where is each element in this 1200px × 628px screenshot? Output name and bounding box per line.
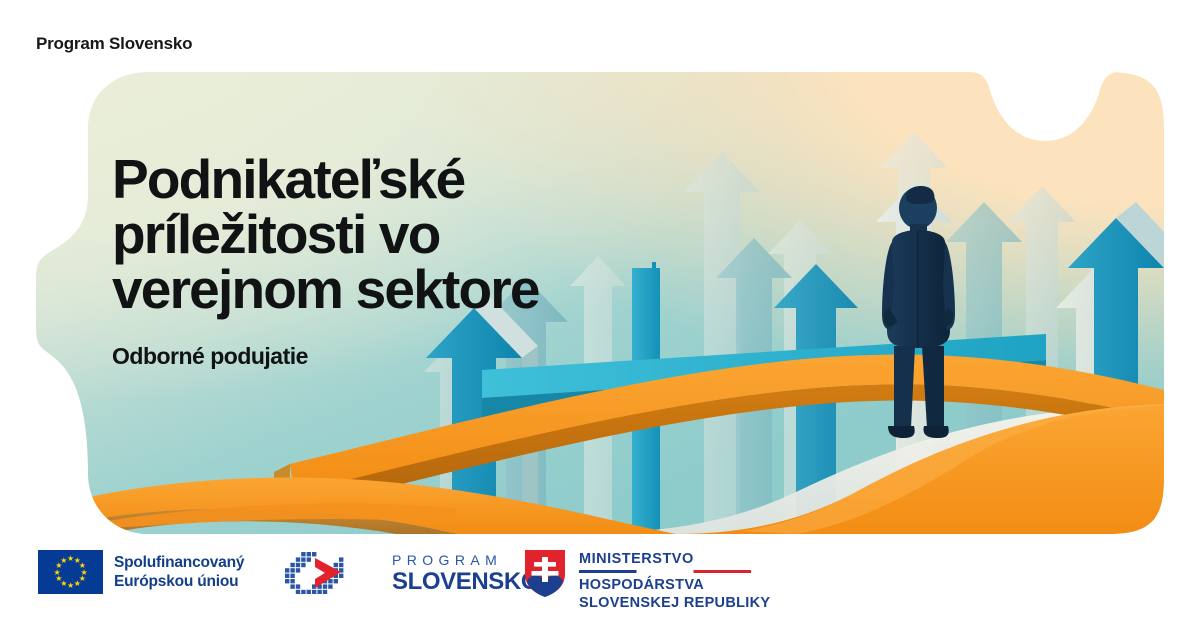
title-line-1: Podnikateľské (112, 152, 672, 207)
eu-flag-icon: ★★★★★★★★★★★★ (38, 550, 103, 594)
eu-text-line-2: Európskou úniou (114, 572, 244, 591)
eu-star-icon: ★ (60, 557, 67, 564)
page-kicker: Program Slovensko (36, 34, 192, 54)
ministry-line-2: HOSPODÁRSTVA (579, 576, 770, 594)
ministry-line-3: SLOVENSKEJ REPUBLIKY (579, 594, 770, 612)
page-subtitle: Odborné podujatie (112, 343, 672, 370)
slovak-coat-of-arms-icon (523, 548, 567, 598)
eu-star-icon: ★ (67, 582, 74, 589)
ministry-line-1: MINISTERSTVO (579, 551, 770, 567)
ministry-wordmark: MINISTERSTVO HOSPODÁRSTVA SLOVENSKEJ REP… (579, 548, 770, 612)
ps-line-1: PROGRAM (392, 553, 539, 567)
tricolor-divider (579, 570, 751, 573)
poster-canvas: Program Slovensko (0, 0, 1200, 628)
logo-program-slovensko: PROGRAM SLOVENSKO (285, 552, 539, 594)
hero-card: Podnikateľské príležitosti vo verejnom s… (36, 72, 1164, 534)
hero-copy: Podnikateľské príležitosti vo verejnom s… (112, 152, 672, 370)
eu-text-line-1: Spolufinancovaný (114, 553, 244, 572)
title-line-3: verejnom sektore (112, 262, 672, 317)
title-line-2: príležitosti vo (112, 207, 672, 262)
page-title: Podnikateľské príležitosti vo verejnom s… (112, 152, 672, 317)
footer-logo-bar: ★★★★★★★★★★★★ Spolufinancovaný Európskou … (0, 540, 1200, 618)
ps-line-2: SLOVENSKO (392, 570, 539, 594)
logo-ministry: MINISTERSTVO HOSPODÁRSTVA SLOVENSKEJ REP… (523, 548, 770, 612)
program-slovensko-mark-icon (285, 552, 380, 594)
eu-logo-text: Spolufinancovaný Európskou úniou (114, 553, 244, 592)
eu-star-icon: ★ (74, 580, 81, 587)
logo-eu: ★★★★★★★★★★★★ Spolufinancovaný Európskou … (38, 550, 244, 594)
program-slovensko-wordmark: PROGRAM SLOVENSKO (392, 553, 539, 594)
